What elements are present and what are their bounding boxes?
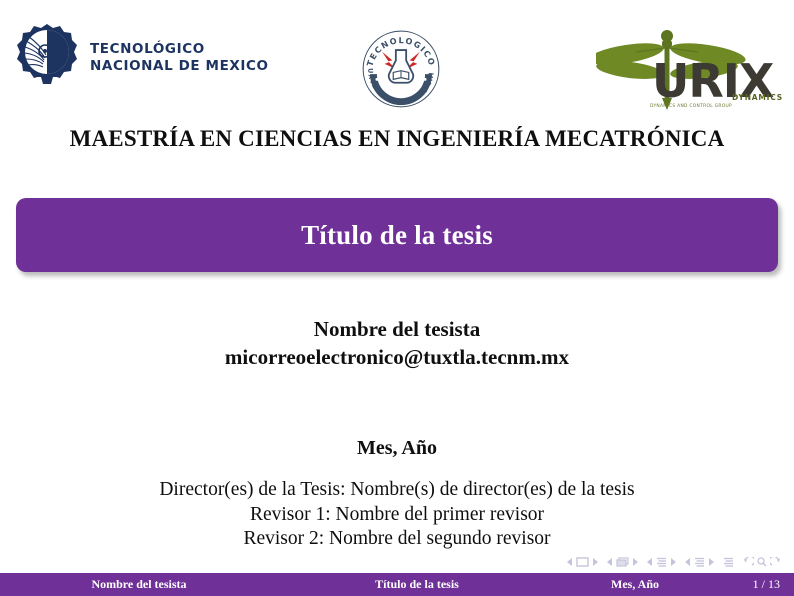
presentation-date: Mes, Año (0, 437, 794, 460)
beamer-navigation-bar[interactable] (567, 554, 786, 570)
author-block: Nombre del tesista micorreoelectronico@t… (0, 316, 794, 371)
footer-author: Nombre del tesista (0, 573, 278, 596)
part-icon[interactable] (694, 557, 705, 567)
back-icon[interactable] (743, 557, 754, 567)
frame-icon[interactable] (576, 557, 589, 567)
tecnm-logo-line2: NACIONAL DE MEXICO (90, 58, 269, 75)
prev-part-icon[interactable] (685, 558, 691, 566)
program-heading: MAESTRÍA EN CIENCIAS EN INGENIERÍA MECAT… (0, 126, 794, 152)
thesis-title: Título de la tesis (301, 220, 493, 251)
prev-subsection-icon[interactable] (607, 558, 613, 566)
tecnm-logo-text: TECNOLÓGICO NACIONAL DE MEXICO (90, 41, 269, 75)
tecnm-logo: TECNOLÓGICO NACIONAL DE MEXICO (14, 22, 269, 94)
footer-title: Título de la tesis (278, 573, 556, 596)
nav-group-frame[interactable] (567, 557, 598, 567)
prev-section-icon[interactable] (647, 558, 653, 566)
subsection-icon[interactable] (616, 557, 629, 567)
next-part-icon[interactable] (708, 558, 714, 566)
next-frame-icon[interactable] (592, 558, 598, 566)
advisor-director-line: Director(es) de la Tesis: Nombre(s) de d… (0, 478, 794, 503)
search-icon[interactable] (757, 557, 767, 567)
nav-group-toc[interactable] (723, 557, 734, 567)
urix-dynamics-label: DYNAMICS (732, 93, 783, 102)
next-section-icon[interactable] (670, 558, 676, 566)
advisor-reviewer1-line: Revisor 1: Nombre del primer revisor (0, 503, 794, 528)
author-email: micorreoelectronico@tuxtla.tecnm.mx (0, 343, 794, 371)
toc-icon[interactable] (723, 557, 734, 567)
slide-footer: Nombre del tesista Título de la tesis Me… (0, 573, 794, 596)
nav-group-history[interactable] (743, 557, 781, 567)
advisors-block: Director(es) de la Tesis: Nombre(s) de d… (0, 478, 794, 552)
nav-group-part[interactable] (685, 557, 714, 567)
next-subsection-icon[interactable] (632, 558, 638, 566)
ittg-seal-logo: TECNOLOGICO TUXTLA GUTIERREZ, CHIS. (358, 26, 444, 112)
nav-group-section[interactable] (647, 557, 676, 567)
forward-icon[interactable] (770, 557, 781, 567)
footer-page-number: 1 / 13 (714, 573, 794, 596)
footer-date: Mes, Año (556, 573, 714, 596)
prev-frame-icon[interactable] (567, 558, 573, 566)
urix-dynamics-logo: URIX DYNAMICS DYNAMICS AND CONTROL GROUP (596, 18, 780, 114)
advisor-reviewer2-line: Revisor 2: Nombre del segundo revisor (0, 527, 794, 552)
author-name: Nombre del tesista (0, 316, 794, 343)
ittg-seal-icon: TECNOLOGICO TUXTLA GUTIERREZ, CHIS. (358, 26, 444, 112)
tecnm-gear-eagle-icon (14, 22, 80, 94)
urix-tagline: DYNAMICS AND CONTROL GROUP (650, 104, 732, 109)
thesis-title-banner: Título de la tesis (16, 198, 778, 272)
section-icon[interactable] (656, 557, 667, 567)
tecnm-logo-line1: TECNOLÓGICO (90, 41, 269, 58)
header-logo-row: TECNOLÓGICO NACIONAL DE MEXICO (0, 0, 794, 118)
nav-group-subsection[interactable] (607, 557, 638, 567)
